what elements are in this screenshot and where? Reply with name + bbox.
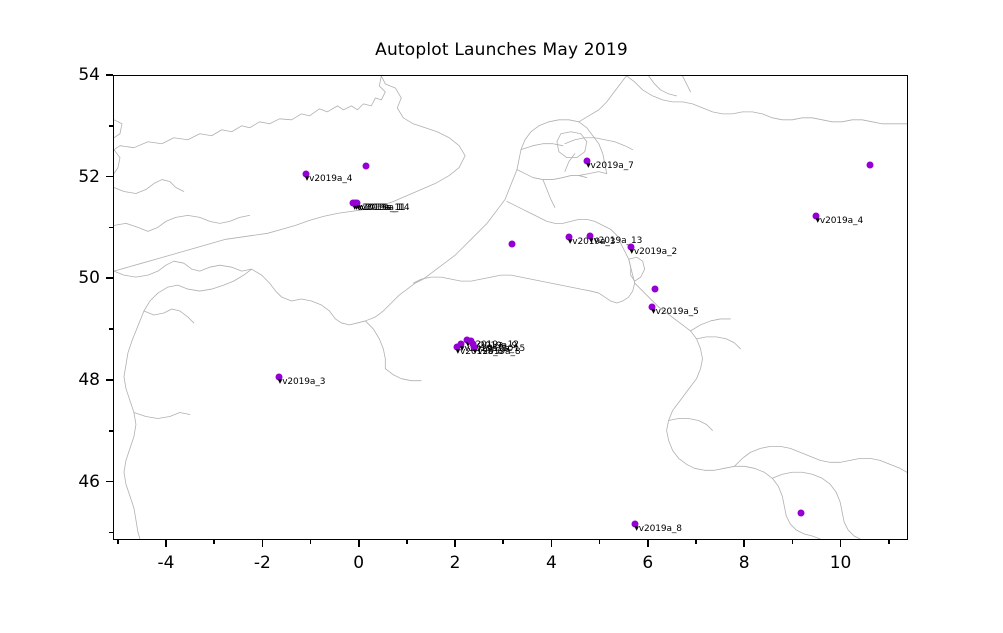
data-point-label: ▾v2019a_4 xyxy=(305,174,353,184)
x-tick-major xyxy=(165,540,167,547)
y-tick-minor xyxy=(109,328,113,330)
data-point-label: ▾v2019a_5 xyxy=(651,307,699,317)
coastline-map xyxy=(114,76,907,539)
y-tick-major xyxy=(106,379,113,381)
y-tick-minor xyxy=(109,532,113,534)
x-tick-label: 4 xyxy=(546,553,557,573)
y-tick-minor xyxy=(109,430,113,432)
y-tick-label: 52 xyxy=(53,167,100,187)
data-point-label: ▾v2019a_2 xyxy=(630,247,678,257)
chart-title: Autoplot Launches May 2019 xyxy=(0,40,1003,60)
data-point-label: ▾v2019a_8 xyxy=(634,524,682,534)
y-tick-minor xyxy=(109,125,113,127)
x-tick-label: -4 xyxy=(158,553,175,573)
y-tick-label: 54 xyxy=(53,65,100,85)
y-tick-major xyxy=(106,176,113,178)
x-tick-major xyxy=(262,540,264,547)
data-point-label: ▾v2019a_13 xyxy=(589,236,642,246)
x-tick-label: -2 xyxy=(254,553,271,573)
y-tick-major xyxy=(106,481,113,483)
x-tick-minor xyxy=(888,540,890,544)
x-tick-label: 8 xyxy=(739,553,750,573)
x-tick-major xyxy=(840,540,842,547)
x-tick-minor xyxy=(310,540,312,544)
data-point[interactable] xyxy=(652,286,659,293)
figure-canvas: Autoplot Launches May 2019 xyxy=(0,0,1003,633)
x-tick-label: 0 xyxy=(353,553,364,573)
y-tick-label: 46 xyxy=(53,472,100,492)
x-tick-minor xyxy=(695,540,697,544)
data-point[interactable] xyxy=(362,163,369,170)
map-axes[interactable]: ▾v2019a_4▾v2019a_11▾v2019a_1▾v2019a_14▾v… xyxy=(113,75,908,540)
x-tick-minor xyxy=(502,540,504,544)
data-point-label: ▾v2019a_8 xyxy=(473,347,521,357)
x-tick-major xyxy=(358,540,360,547)
y-tick-label: 50 xyxy=(53,268,100,288)
x-tick-label: 6 xyxy=(642,553,653,573)
y-tick-label: 48 xyxy=(53,370,100,390)
x-tick-major xyxy=(454,540,456,547)
y-tick-major xyxy=(106,74,113,76)
x-tick-minor xyxy=(792,540,794,544)
data-point-label: ▾v2019a_3 xyxy=(278,377,326,387)
data-point[interactable] xyxy=(797,510,804,517)
x-tick-minor xyxy=(213,540,215,544)
data-point-label: ▾v2019a_7 xyxy=(586,161,634,171)
x-tick-major xyxy=(551,540,553,547)
x-tick-label: 2 xyxy=(450,553,461,573)
x-tick-major xyxy=(647,540,649,547)
data-point[interactable] xyxy=(508,240,515,247)
y-tick-minor xyxy=(109,227,113,229)
x-tick-minor xyxy=(406,540,408,544)
data-point[interactable] xyxy=(867,161,874,168)
data-point-label: ▾v2019a_14 xyxy=(356,203,409,213)
x-tick-label: 10 xyxy=(830,553,852,573)
y-tick-major xyxy=(106,277,113,279)
data-point-label: ▾v2019a_4 xyxy=(815,216,863,226)
x-tick-major xyxy=(743,540,745,547)
x-tick-minor xyxy=(599,540,601,544)
x-tick-minor xyxy=(117,540,119,544)
